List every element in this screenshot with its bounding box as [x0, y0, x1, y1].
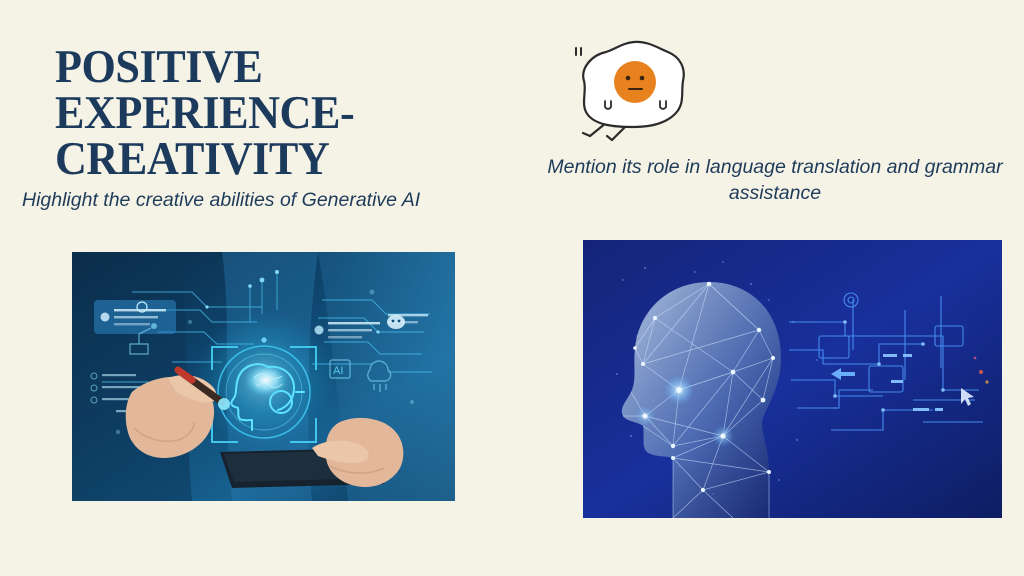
fried-egg-doodle [552, 32, 707, 157]
image-hands-tablet-ai: AI [72, 252, 455, 501]
egg-eye-right [640, 76, 645, 81]
ai-label: AI [333, 365, 343, 377]
image-wireframe-head [583, 240, 1002, 518]
egg-foot-left [583, 133, 590, 136]
slide-canvas: POSITIVE EXPERIENCE- CREATIVITY [0, 0, 1024, 576]
image-hands-tablet-ai-art: AI [72, 252, 455, 501]
page-title: POSITIVE EXPERIENCE- CREATIVITY [55, 44, 544, 182]
egg-foot-right [607, 136, 612, 140]
node-glow-tertiary [635, 406, 655, 426]
subtitle-left: Highlight the creative abilities of Gene… [22, 188, 582, 214]
chat-bubble-icon [387, 315, 405, 329]
egg-spark-mark [576, 48, 581, 55]
subtitle-right: Mention its role in language translation… [540, 155, 1010, 206]
egg-yolk [614, 61, 656, 103]
brain-core-glow [244, 363, 288, 397]
node-glow-secondary [712, 425, 734, 447]
image-wireframe-head-art [583, 240, 1002, 518]
ui-chip-left [94, 300, 176, 334]
egg-eye-left [626, 76, 631, 81]
node-glow-primary [664, 375, 694, 405]
